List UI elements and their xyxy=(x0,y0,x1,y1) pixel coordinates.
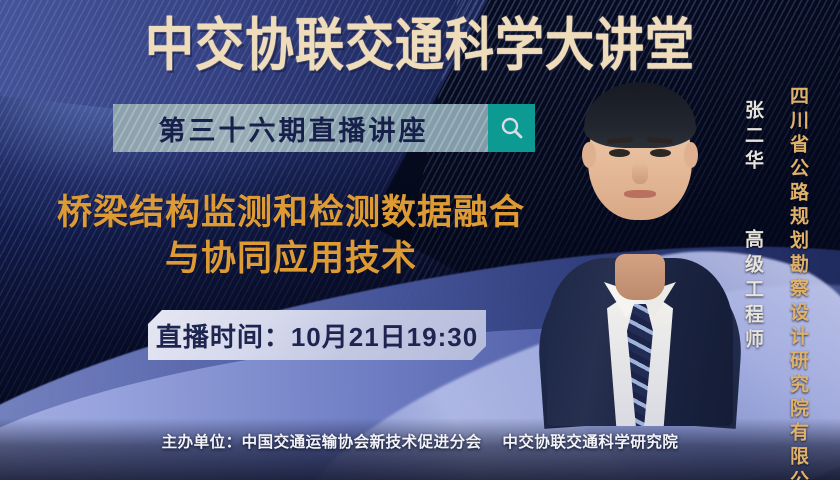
portrait-nose xyxy=(632,162,648,184)
speaker-name-and-title: 张二华 高级工程师 xyxy=(739,100,766,300)
lecture-title-line1: 桥梁结构监测和检测数据融合 xyxy=(57,193,525,232)
search-icon xyxy=(499,115,525,141)
portrait-ear-left xyxy=(582,142,596,168)
session-label: 第三十六期直播讲座 xyxy=(113,104,488,152)
portrait-eye-left xyxy=(609,149,630,157)
speaker-organization: 四川省公路规划勘察设计研究院有限公司 xyxy=(784,86,811,466)
portrait-mouth xyxy=(624,190,656,198)
broadcast-time-badge: 直播时间：10月21日19:30 xyxy=(148,310,486,360)
lecture-title-line2: 与协同应用技术 xyxy=(26,236,556,282)
portrait-ear-right xyxy=(684,142,698,168)
portrait-neck xyxy=(615,254,665,300)
broadcast-time-text: 直播时间：10月21日19:30 xyxy=(156,317,478,354)
live-lecture-poster: 中交协联交通科学大讲堂 第三十六期直播讲座 桥梁结构监测和检测数据融合 与协同应… xyxy=(0,0,840,480)
speaker-portrait xyxy=(545,64,735,426)
lecture-title: 桥梁结构监测和检测数据融合 与协同应用技术 xyxy=(26,190,556,282)
session-banner: 第三十六期直播讲座 xyxy=(113,104,535,152)
organizers-footer: 主办单位：中国交通运输协会新技术促进分会 中交协联交通科学研究院 xyxy=(0,430,840,452)
portrait-hair xyxy=(584,82,696,148)
search-button[interactable] xyxy=(488,104,535,152)
portrait-eye-right xyxy=(650,149,671,157)
